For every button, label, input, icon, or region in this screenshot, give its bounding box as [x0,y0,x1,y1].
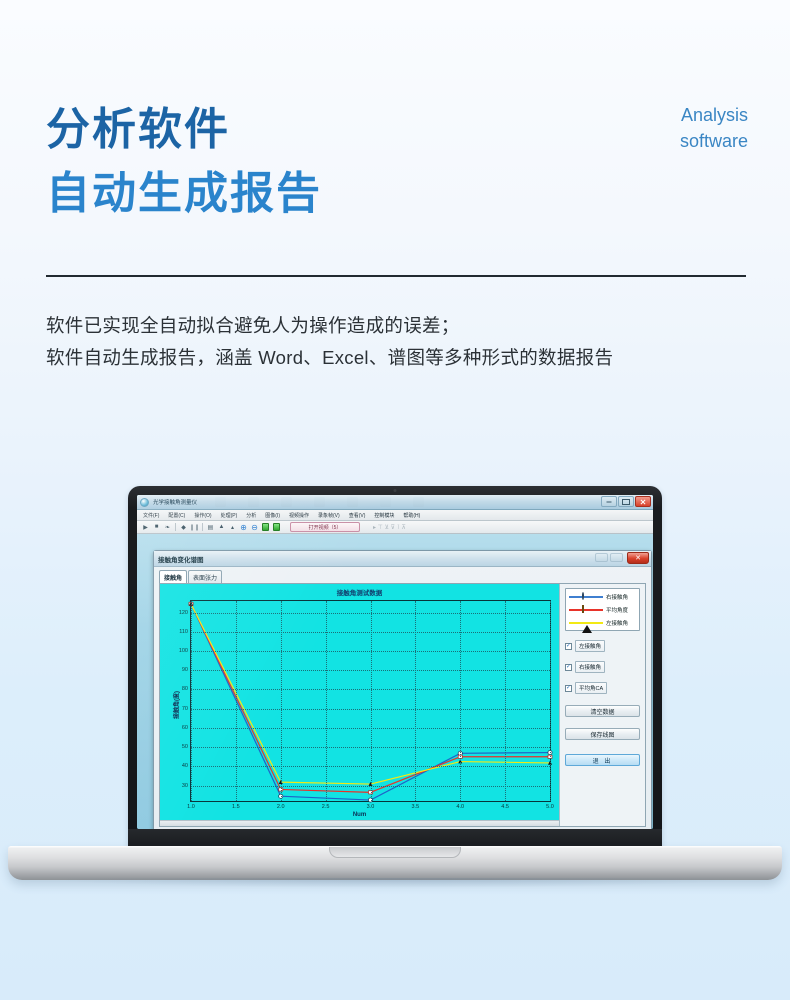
chart-x-tick-label: 2.5 [322,804,330,810]
section-divider [46,275,746,277]
laptop-screen: 光学接触角测量仪 文件(F) 配置(C) 操作(O) 处理(P) 分析 图像(I… [137,495,653,829]
minimize-button[interactable] [601,496,617,507]
chart-gridline-horizontal [191,747,550,748]
chart-plot-region: 1.01.52.02.53.03.54.04.55.03040506070809… [190,600,551,802]
step-icon[interactable]: ◆ [180,523,187,531]
pause-icon[interactable]: ❙❙ [191,523,198,531]
tab-surface-tension[interactable]: 表面张力 [188,570,222,583]
page-description-line1: 软件已实现全自动拟合避免人为操作造成的误差； [46,310,613,342]
chart-x-tick-label: 4.5 [501,804,509,810]
legend-label-right-angle: 右接触角 [606,593,628,601]
chart-gridline-vertical [550,601,551,801]
up-triangle-icon[interactable]: ▲ [218,523,225,531]
checkbox-left-angle-box[interactable]: ✓ [565,643,572,650]
page-description-line2: 软件自动生成报告，涵盖 Word、Excel、谱图等多种形式的数据报告 [46,342,613,374]
target-add-icon[interactable]: ⊕ [240,523,247,531]
app-menu-bar[interactable]: 文件(F) 配置(C) 操作(O) 处理(P) 分析 图像(I) 视频操作 录象… [137,510,653,521]
dialog-tabs[interactable]: 接触角 表面张力 [159,571,646,583]
exit-button[interactable]: 退 出 [565,754,640,766]
save-chart-button[interactable]: 保存线图 [565,728,640,740]
menu-item-frame[interactable]: 录象帧(V) [318,512,340,519]
menu-item-config[interactable]: 配置(C) [168,512,185,519]
menu-item-image[interactable]: 图像(I) [265,512,280,519]
menu-item-help[interactable]: 帮助(H) [403,512,420,519]
legend-item-left-angle: 左接触角 [569,618,636,627]
checkbox-left-angle-label[interactable]: 左接触角 [575,640,605,652]
page-title-line2: 自动生成报告 [46,162,322,226]
laptop-lid: 光学接触角测量仪 文件(F) 配置(C) 操作(O) 处理(P) 分析 图像(I… [128,486,662,851]
chart-gridline-horizontal [191,689,550,690]
chart-y-tick-label: 90 [182,667,188,673]
checkbox-avg-angle-box[interactable]: ✓ [565,685,572,692]
checkbox-avg-angle[interactable]: ✓ 平均角CA [565,682,640,694]
legend-symbol-square [569,605,603,614]
chart-x-tick-label: 2.0 [277,804,285,810]
chart-x-tick-label: 4.0 [456,804,464,810]
checkbox-right-angle[interactable]: ✓ 右接触角 [565,661,640,673]
chart-gridline-horizontal [191,786,550,787]
chart-y-tick-label: 100 [179,648,188,654]
chart-x-tick-label: 1.5 [232,804,240,810]
chart-gridline-horizontal [191,632,550,633]
webcam-icon [394,489,397,492]
page-title-english-line1: Analysis [680,102,748,128]
chart-y-tick-label: 110 [179,629,188,635]
play-icon[interactable]: ▶ [142,523,149,531]
dialog-panel: 接触角测试数据 接触角(度) Num 1.01.52.02.53.03.54.0… [159,583,646,827]
grab-green-icon[interactable] [262,523,269,531]
chart-side-panel: 右接触角 平均角度 [559,584,645,826]
chart-x-tick-label: 1.0 [187,804,195,810]
app-logo-icon [140,498,149,507]
dialog-body: 接触角 表面张力 接触角测试数据 接触角(度) Num [154,567,651,829]
menu-item-view[interactable]: 查看(V) [349,512,366,519]
close-button[interactable] [635,496,651,507]
chart-x-tick-label: 5.0 [546,804,554,810]
chart-y-tick-label: 30 [182,783,188,789]
page-title-english: Analysis software [680,102,748,154]
dialog-close-button[interactable]: ✕ [627,552,649,564]
menu-item-video[interactable]: 视频操作 [289,512,309,519]
chart-gridline-horizontal [191,709,550,710]
contact-angle-dialog: 接触角变化谱图 ✕ 接触角 表面张力 接触角测试数据 [153,550,652,829]
up-triangle-small-icon[interactable]: ▴ [229,523,236,531]
capture-icon[interactable]: ❧ [164,523,171,531]
legend-symbol-circle [569,592,603,601]
laptop-mockup: 光学接触角测量仪 文件(F) 配置(C) 操作(O) 处理(P) 分析 图像(I… [0,486,790,886]
window-controls[interactable] [601,496,651,507]
app-title-bar: 光学接触角测量仪 [137,495,653,510]
laptop-base [8,846,782,880]
legend-symbol-triangle [569,618,603,627]
checkbox-left-angle[interactable]: ✓ 左接触角 [565,640,640,652]
chart-y-tick-label: 70 [182,706,188,712]
legend-item-avg-angle: 平均角度 [569,605,636,614]
chart-y-tick-label: 60 [182,725,188,731]
page-description: 软件已实现全自动拟合避免人为操作造成的误差； 软件自动生成报告，涵盖 Word、… [46,310,613,374]
menu-item-operate[interactable]: 操作(O) [194,512,211,519]
chart-y-axis-label: 接触角(度) [172,691,181,719]
page-title: 分析软件 自动生成报告 [46,98,322,226]
dialog-minmax-buttons[interactable] [595,553,623,562]
chart-y-tick-label: 50 [182,744,188,750]
chart-title: 接触角测试数据 [160,587,559,597]
menu-item-process[interactable]: 处理(P) [221,512,238,519]
app-toolbar[interactable]: ▶ ■ ❧ ◆ ❙❙ ▤ ▲ ▴ ⊕ ⊖ 打开视频（5） ▸ ⊤ ⊻ ⊽ ⊺ ⊼ [137,521,653,534]
chart-area: 接触角测试数据 接触角(度) Num 1.01.52.02.53.03.54.0… [160,584,559,826]
chart-legend: 右接触角 平均角度 [565,588,640,631]
maximize-button[interactable] [618,496,634,507]
chart-gridline-horizontal [191,651,550,652]
chart-gridline-horizontal [191,670,550,671]
page-title-english-line2: software [680,128,748,154]
menu-item-analysis[interactable]: 分析 [246,512,256,519]
checkbox-right-angle-label[interactable]: 右接触角 [575,661,605,673]
titlebar-decor [215,497,424,507]
chart-gridline-horizontal [191,728,550,729]
chart-horizontal-scrollbar[interactable] [160,820,559,826]
dialog-title-bar: 接触角变化谱图 ✕ [154,551,651,567]
tab-contact-angle[interactable]: 接触角 [159,570,187,583]
app-window-title: 光学接触角测量仪 [153,498,197,506]
checkbox-avg-angle-label[interactable]: 平均角CA [575,682,607,694]
laptop-shadow [40,878,752,888]
chart-y-tick-label: 120 [179,610,188,616]
chart-y-tick-label: 80 [182,686,188,692]
menu-item-control[interactable]: 控制模块 [374,512,394,519]
legend-label-left-angle: 左接触角 [606,619,628,627]
chart-x-axis-label: Num [160,812,559,818]
laptop-latch-notch [329,847,461,858]
chart-x-tick-label: 3.5 [412,804,420,810]
frame-icon[interactable]: ▤ [207,523,214,531]
toolbar-extra-icons[interactable]: ▸ ⊤ ⊻ ⊽ ⊺ ⊼ [373,524,406,531]
application-window: 光学接触角测量仪 文件(F) 配置(C) 操作(O) 处理(P) 分析 图像(I… [137,495,653,829]
chart-x-tick-label: 3.0 [367,804,375,810]
menu-item-file[interactable]: 文件(F) [143,512,159,519]
open-video-button[interactable]: 打开视频（5） [290,522,360,532]
checkbox-right-angle-box[interactable]: ✓ [565,664,572,671]
legend-label-avg-angle: 平均角度 [606,606,628,614]
chart-gridline-horizontal [191,613,550,614]
chart-y-tick-label: 40 [182,763,188,769]
toolbar-separator [175,523,176,531]
chart-gridline-horizontal [191,766,550,767]
grab-green2-icon[interactable] [273,523,280,531]
page-title-line1: 分析软件 [46,98,322,162]
legend-item-right-angle: 右接触角 [569,592,636,601]
clear-data-button[interactable]: 清空数据 [565,705,640,717]
target-remove-icon[interactable]: ⊖ [251,523,258,531]
dialog-title: 接触角变化谱图 [158,554,204,564]
toolbar-separator-2 [202,523,203,531]
stop-icon[interactable]: ■ [153,523,160,531]
